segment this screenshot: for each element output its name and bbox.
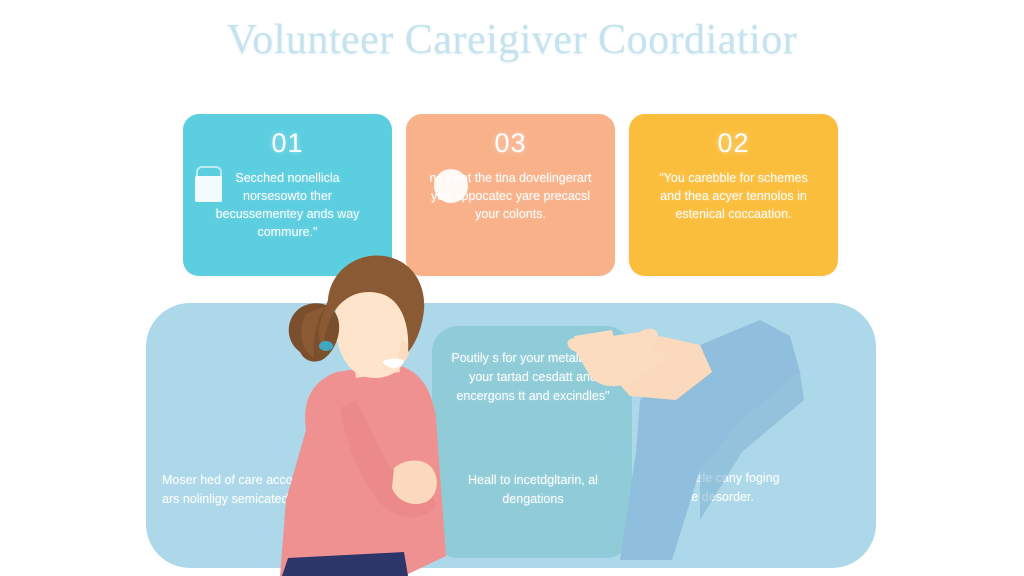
panel-mid-bottom-text: Heall to incetdgltarin, al dengations	[440, 471, 626, 509]
card-number: 01	[197, 130, 378, 157]
card-body-text: Secched nonellicla norsesowto ther becus…	[197, 169, 378, 242]
card-number: 03	[420, 130, 601, 157]
info-card-row: 01 Secched nonellicla norsesowto ther be…	[183, 114, 838, 276]
square-icon	[195, 176, 222, 202]
lower-content-panel: Poutily s for your metalble fits your ta…	[146, 303, 876, 568]
card-body-text: "You carebble for schemes and thea acyer…	[643, 169, 824, 223]
page-canvas: Volunteer Careigiver Coordiatior 01 Secc…	[0, 0, 1024, 576]
info-card-01[interactable]: 01 Secched nonellicla norsesowto ther be…	[183, 114, 392, 276]
page-title: Volunteer Careigiver Coordiatior	[0, 16, 1024, 64]
panel-right-bottom-text: Shep podele cany foging and trabte desor…	[642, 469, 792, 507]
panel-left-bottom-text: Moser hed of care accoont family yourciv…	[162, 471, 412, 509]
info-card-03[interactable]: 03 no peot the tina dovelingerart you ap…	[406, 114, 615, 276]
info-card-02[interactable]: 02 "You carebble for schemes and thea ac…	[629, 114, 838, 276]
circle-icon	[434, 169, 468, 203]
card-number: 02	[643, 130, 824, 157]
panel-mid-top-text: Poutily s for your metalble fits your ta…	[440, 349, 626, 405]
